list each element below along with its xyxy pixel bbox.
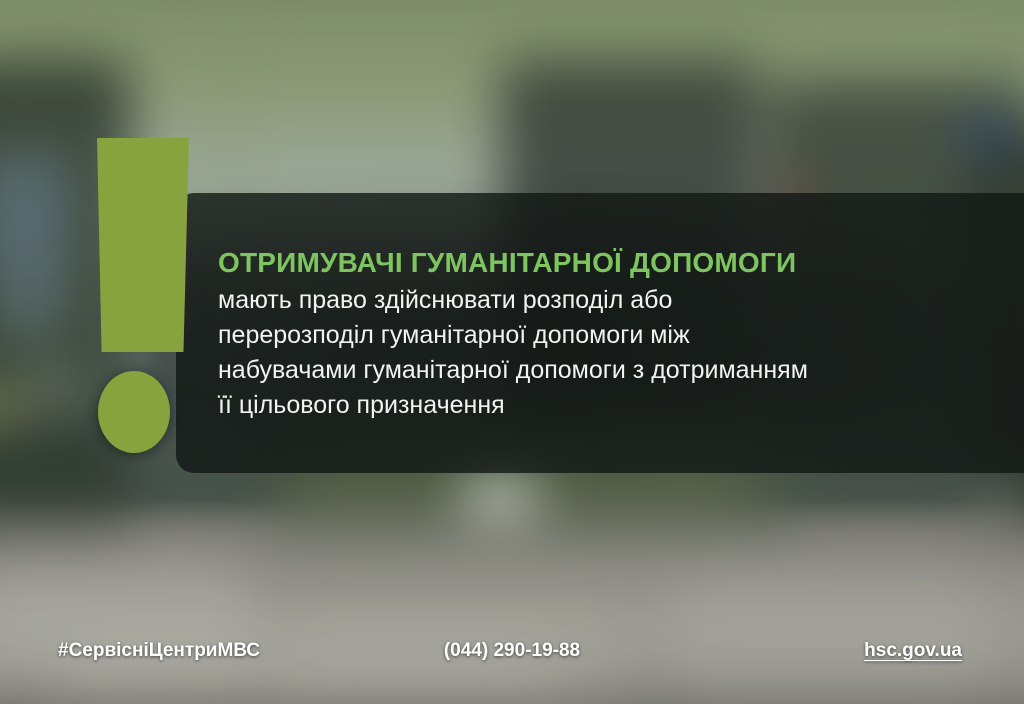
body-line: перерозподіл гуманітарної допомоги між xyxy=(218,318,978,353)
body-line: набувачами гуманітарної допомоги з дотри… xyxy=(218,353,978,388)
exclamation-dot-icon xyxy=(98,371,170,453)
exclamation-mark-icon xyxy=(97,138,189,352)
body-line: мають право здійснювати розподіл або xyxy=(218,283,978,318)
footer-website-link[interactable]: hsc.gov.ua xyxy=(864,640,962,662)
page-title: ОТРИМУВАЧІ ГУМАНІТАРНОЇ ДОПОМОГИ xyxy=(218,247,796,279)
body-text: мають право здійснювати розподіл або пер… xyxy=(218,283,978,423)
poster-canvas: ОТРИМУВАЧІ ГУМАНІТАРНОЇ ДОПОМОГИ мають п… xyxy=(0,0,1024,704)
footer: #СервісніЦентриМВС (044) 290-19-88 hsc.g… xyxy=(0,640,1024,672)
body-line: її цільового призначення xyxy=(218,388,978,423)
